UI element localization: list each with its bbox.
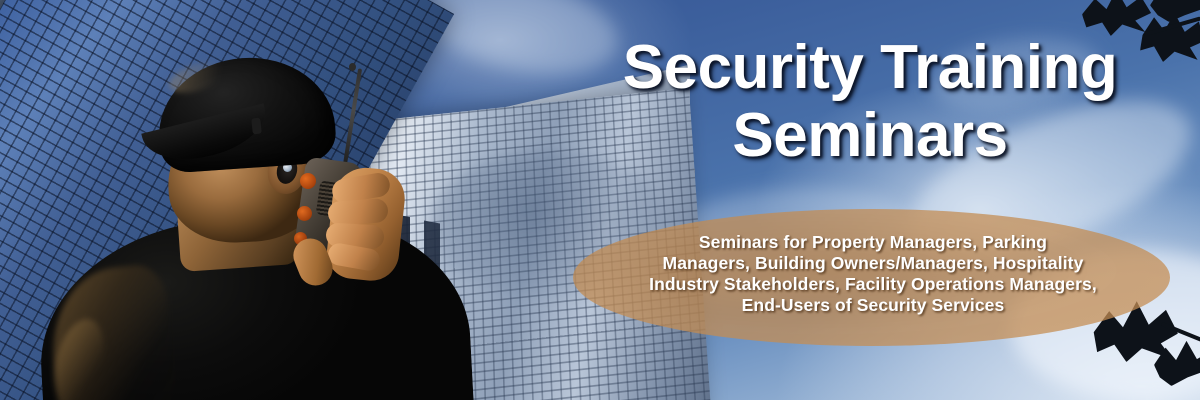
- banner-subtitle: Seminars for Property Managers, Parking …: [565, 232, 1181, 316]
- banner-title: Security Training Seminars: [560, 34, 1180, 170]
- guard-finger: [327, 198, 389, 226]
- radio-antenna: [342, 68, 362, 171]
- radio-knob: [300, 173, 316, 189]
- radio-knob: [297, 206, 312, 221]
- security-training-seminars-banner: Security Training Seminars Seminars for …: [0, 0, 1200, 400]
- radio-antenna-tip: [349, 63, 356, 71]
- security-guard-photo-subject: [0, 0, 560, 400]
- cap-strap-detail: [251, 118, 262, 135]
